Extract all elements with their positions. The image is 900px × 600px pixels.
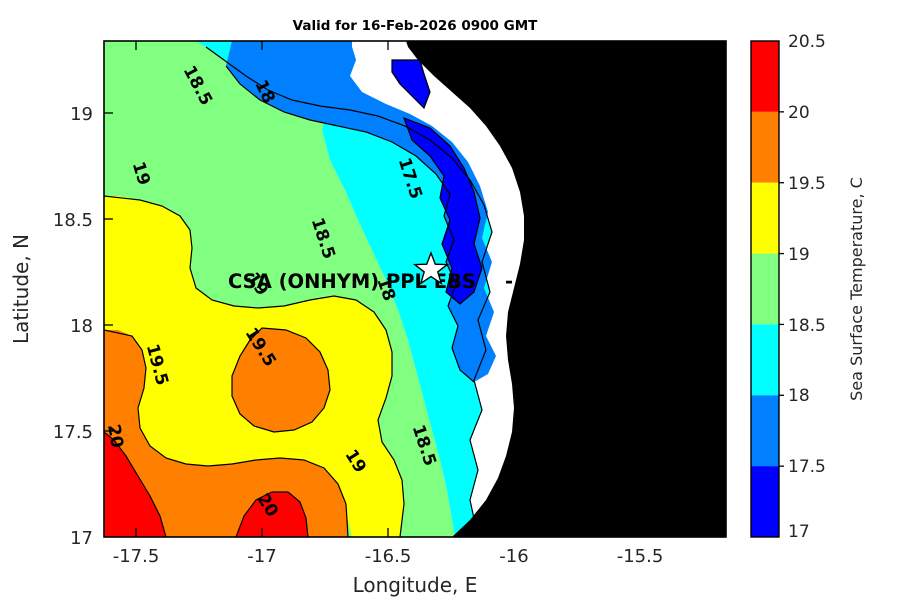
y-tick-label: 17.5 (53, 422, 93, 443)
colorbar-band (751, 395, 779, 466)
colorbar-band (751, 324, 779, 395)
y-tick-label: 19 (70, 104, 93, 125)
x-tick-label: -17.5 (113, 546, 160, 567)
x-tick-label: -17 (247, 546, 276, 567)
contour-map: 18.5 18 19 18.5 17.5 18 19 19.5 19.5 20 … (103, 41, 726, 537)
y-tick-label: 18 (70, 316, 93, 337)
y-tick-label: 18.5 (53, 210, 93, 231)
x-tick-label: -16.5 (365, 546, 412, 567)
colorbar-band (751, 466, 779, 537)
colorbar-tick-label: 18 (788, 386, 810, 406)
page-title: Valid for 16-Feb-2026 0900 GMT (293, 18, 538, 34)
x-tick-label: -16 (499, 546, 528, 567)
colorbar-tick-label: 17.5 (788, 457, 826, 477)
x-axis-label: Longitude, E (353, 573, 478, 597)
colorbar-band (751, 254, 779, 325)
colorbar-axis-label: Sea Surface Temperature, C (847, 177, 866, 401)
station-label-clip: - (505, 270, 513, 293)
colorbar-band (751, 183, 779, 254)
colorbar-tick-label: 18.5 (788, 316, 826, 336)
colorbar-band (751, 41, 779, 112)
colorbar-tick-label: 19 (788, 245, 810, 265)
colorbar-tick-label: 17 (788, 522, 810, 542)
sst-contour-figure: Valid for 16-Feb-2026 0900 GMT (0, 0, 900, 600)
x-tick-label: -15.5 (617, 546, 664, 567)
colorbar-tick-label: 19.5 (788, 174, 826, 194)
colorbar-tick-label: 20 (788, 103, 810, 123)
y-tick-label: 17 (70, 528, 93, 549)
y-axis-label: Latitude, N (9, 234, 33, 344)
contour-label: 20 (103, 423, 127, 450)
colorbar-tick-label: 20.5 (788, 32, 826, 52)
colorbar-band (751, 112, 779, 183)
